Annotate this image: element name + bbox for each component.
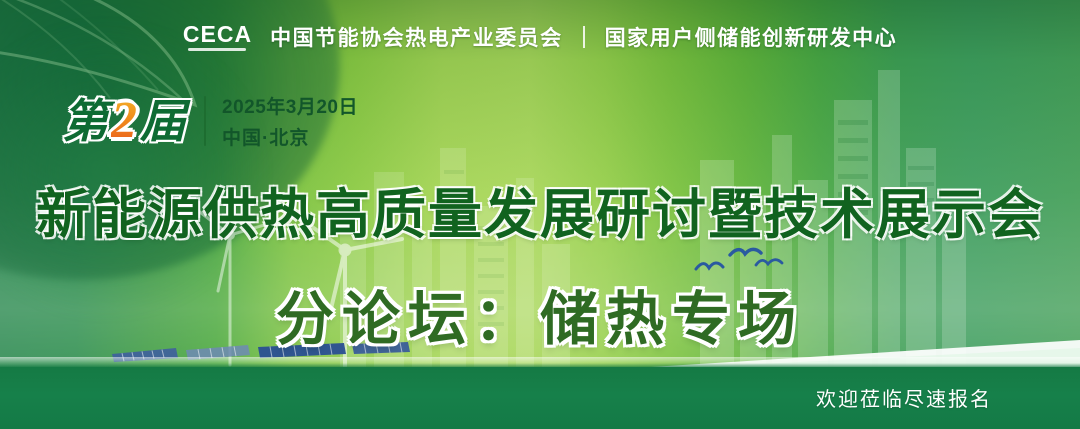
event-date: 2025年3月20日 <box>222 92 358 119</box>
edition-date-block: 第 2 届 2025年3月20日 中国·北京 <box>62 92 358 150</box>
bottom-band-highlight <box>0 357 1080 367</box>
edition-date-divider <box>204 96 206 146</box>
header-organisations: CECA 中国节能协会热电产业委员会 国家用户侧储能创新研发中心 <box>0 22 1080 52</box>
edition-prefix: 第 <box>62 99 108 145</box>
bottom-band: 欢迎莅临尽速报名 <box>0 367 1080 429</box>
org-secondary-label: 国家用户侧储能创新研发中心 <box>605 22 898 52</box>
ceca-logo-underline <box>188 48 246 51</box>
ceca-logo: CECA <box>183 23 252 51</box>
edition-suffix: 届 <box>140 99 186 145</box>
date-location-column: 2025年3月20日 中国·北京 <box>222 92 358 150</box>
edition-badge: 第 2 届 <box>62 95 186 147</box>
ceca-logo-text: CECA <box>183 23 252 46</box>
org-primary-label: 中国节能协会热电产业委员会 <box>270 22 563 52</box>
page-title: 新能源供热高质量发展研讨暨技术展示会 <box>0 170 1080 249</box>
event-location: 中国·北京 <box>222 123 358 150</box>
conference-banner: CECA 中国节能协会热电产业委员会 国家用户侧储能创新研发中心 第 2 届 2… <box>0 0 1080 429</box>
edition-number: 2 <box>111 95 137 147</box>
org-divider <box>583 26 585 48</box>
footer-note: 欢迎莅临尽速报名 <box>816 383 992 412</box>
